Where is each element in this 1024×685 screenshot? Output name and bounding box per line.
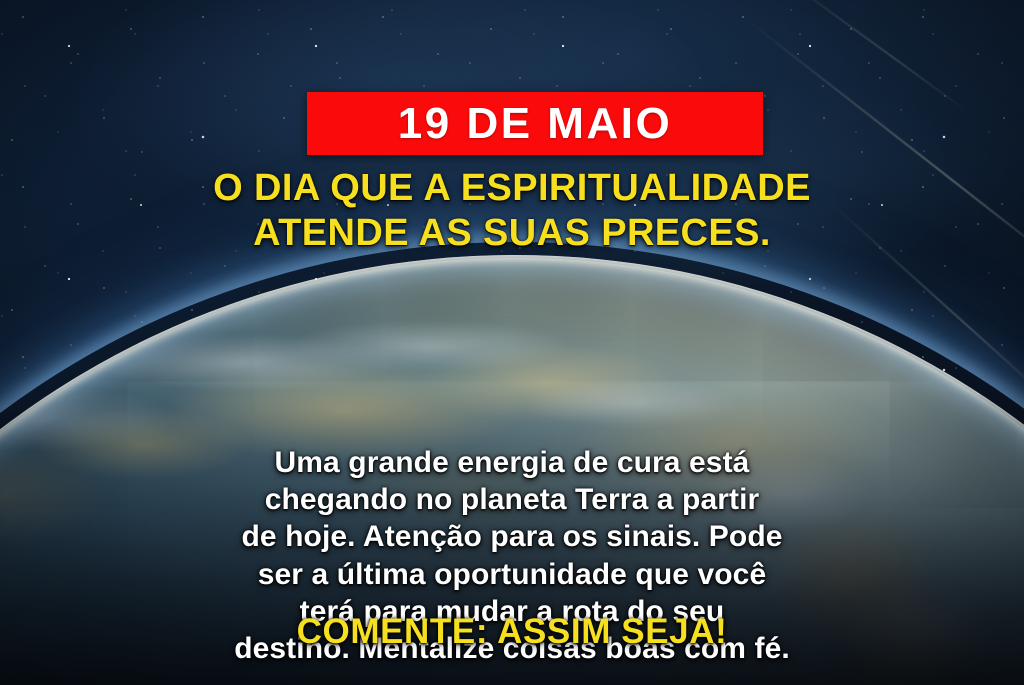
body-line-1: Uma grande energia de cura está <box>62 444 962 481</box>
headline-line-1: O DIA QUE A ESPIRITUALIDADE <box>0 166 1024 211</box>
headline: O DIA QUE A ESPIRITUALIDADE ATENDE AS SU… <box>0 166 1024 256</box>
call-to-action-label: COMENTE: ASSIM SEJA! <box>297 612 728 651</box>
date-banner-label: 19 DE MAIO <box>398 102 672 146</box>
poster-content: 19 DE MAIO O DIA QUE A ESPIRITUALIDADE A… <box>0 0 1024 685</box>
date-banner: 19 DE MAIO <box>307 92 763 155</box>
body-line-3: de hoje. Atenção para os sinais. Pode <box>62 518 962 555</box>
headline-line-2: ATENDE AS SUAS PRECES. <box>0 211 1024 256</box>
body-line-2: chegando no planeta Terra a partir <box>62 481 962 518</box>
call-to-action: COMENTE: ASSIM SEJA! <box>0 614 1024 649</box>
body-line-4: ser a última oportunidade que você <box>62 556 962 593</box>
poster-canvas: 19 DE MAIO O DIA QUE A ESPIRITUALIDADE A… <box>0 0 1024 685</box>
